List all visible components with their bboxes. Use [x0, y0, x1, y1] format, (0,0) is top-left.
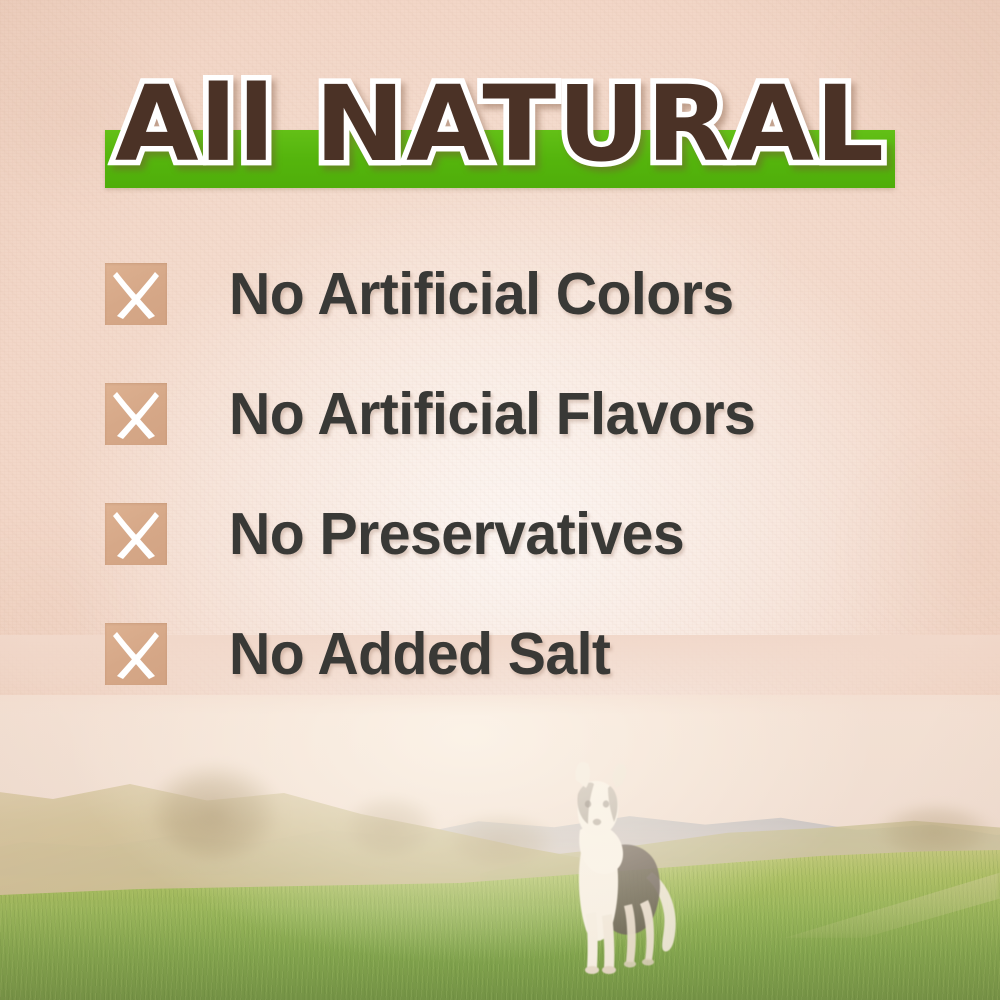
list-item-label: No Artificial Colors — [229, 263, 734, 325]
list-item-label: No Preservatives — [229, 503, 684, 565]
list-item: No Artificial Flavors — [105, 383, 965, 445]
infographic-canvas: All NATURAL No Artificial Colors No Arti… — [0, 0, 1000, 1000]
list-item: No Artificial Colors — [105, 263, 965, 325]
x-mark-icon — [105, 383, 167, 445]
list-item-label: No Added Salt — [229, 623, 610, 685]
page-title: All NATURAL — [0, 72, 1000, 176]
list-item: No Added Salt — [105, 623, 965, 685]
x-mark-icon — [105, 263, 167, 325]
headline-block: All NATURAL — [0, 72, 1000, 197]
feature-list: No Artificial Colors No Artificial Flavo… — [105, 263, 965, 743]
shrub-tree — [130, 752, 300, 882]
list-item-label: No Artificial Flavors — [229, 383, 755, 445]
x-mark-icon — [105, 623, 167, 685]
list-item: No Preservatives — [105, 503, 965, 565]
x-mark-icon — [105, 503, 167, 565]
border-collie-dog — [540, 754, 700, 984]
